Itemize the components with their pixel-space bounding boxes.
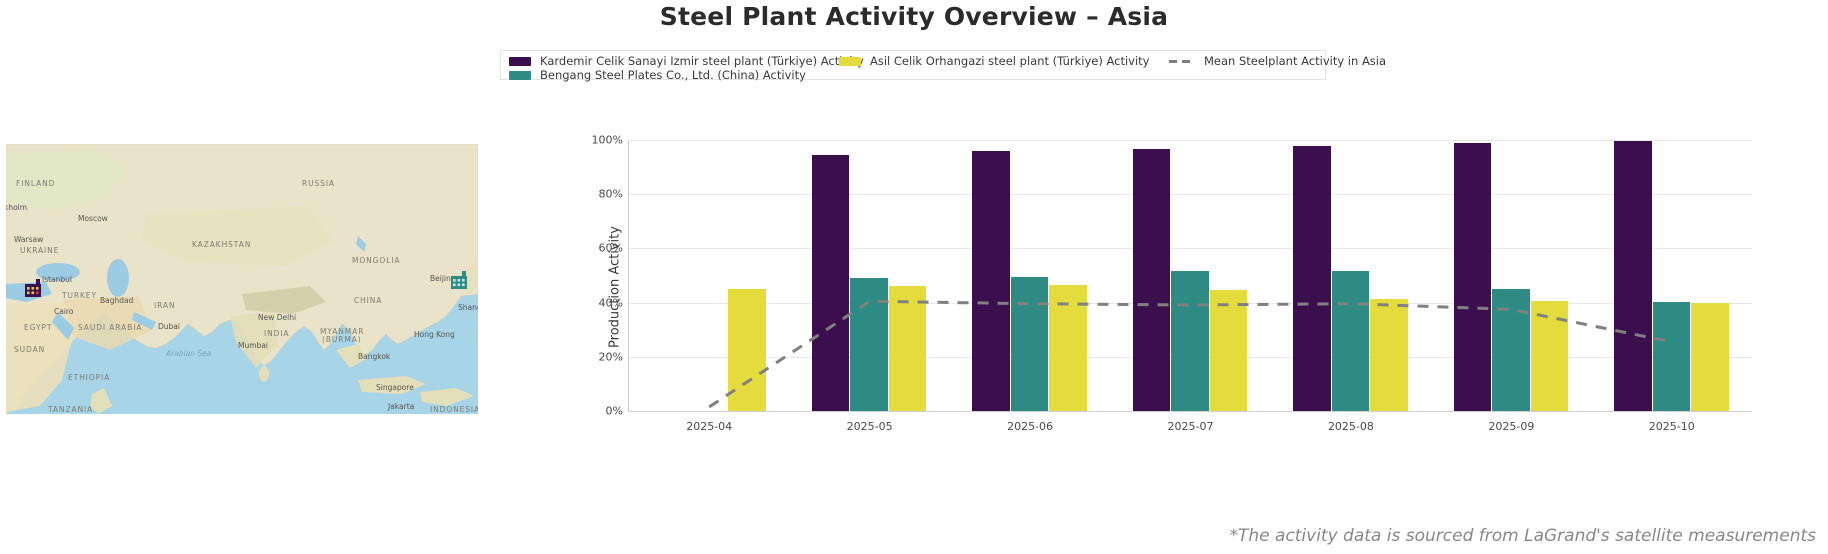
legend-swatch-asil bbox=[839, 57, 861, 66]
factory-icon bbox=[450, 270, 468, 290]
plot-area: 0%20%40%60%80%100%2025-042025-052025-062… bbox=[628, 140, 1752, 412]
china-plant-marker[interactable] bbox=[450, 270, 468, 290]
legend-label-asil: Asil Celik Orhangazi steel plant (Türkiy… bbox=[870, 54, 1149, 68]
legend-item-mean[interactable]: Mean Steelplant Activity in Asia bbox=[1169, 54, 1386, 68]
y-axis-tick: 40% bbox=[563, 296, 623, 309]
turkiye-plant-marker[interactable] bbox=[24, 278, 42, 298]
mean-activity-line bbox=[629, 140, 1752, 411]
source-footnote: *The activity data is sourced from LaGra… bbox=[1229, 526, 1816, 546]
legend-item-bengang[interactable]: Bengang Steel Plates Co., Ltd. (China) A… bbox=[509, 68, 839, 82]
x-axis-tick: 2025-10 bbox=[1649, 420, 1695, 433]
x-axis-tick: 2025-08 bbox=[1328, 420, 1374, 433]
page-title: Steel Plant Activity Overview – Asia bbox=[0, 2, 1828, 31]
x-axis-tick: 2025-09 bbox=[1488, 420, 1534, 433]
legend-swatch-mean-dashed-line bbox=[1169, 56, 1195, 66]
y-axis-tick: 60% bbox=[563, 242, 623, 255]
legend-swatch-bengang bbox=[509, 71, 531, 80]
x-axis-tick: 2025-06 bbox=[1007, 420, 1053, 433]
y-axis-tick: 80% bbox=[563, 188, 623, 201]
chart-legend: Kardemir Celik Sanayi Izmir steel plant … bbox=[500, 50, 1326, 80]
x-axis-tick: 2025-07 bbox=[1168, 420, 1214, 433]
legend-label-bengang: Bengang Steel Plates Co., Ltd. (China) A… bbox=[540, 68, 806, 82]
asia-overview-map[interactable]: FINLAND RUSSIA kholm Moscow Warsaw UKRAI… bbox=[6, 144, 478, 414]
legend-label-mean: Mean Steelplant Activity in Asia bbox=[1204, 54, 1386, 68]
y-axis-tick: 20% bbox=[563, 350, 623, 363]
legend-swatch-kardemir bbox=[509, 57, 531, 66]
y-axis-tick: 0% bbox=[563, 405, 623, 418]
legend-label-kardemir: Kardemir Celik Sanayi Izmir steel plant … bbox=[540, 54, 864, 68]
activity-bar-chart: Production Activity 0%20%40%60%80%100%20… bbox=[560, 132, 1820, 442]
factory-icon bbox=[24, 278, 42, 298]
map-canvas bbox=[6, 144, 478, 414]
y-axis-tick: 100% bbox=[563, 134, 623, 147]
x-axis-tick: 2025-05 bbox=[847, 420, 893, 433]
legend-item-asil[interactable]: Asil Celik Orhangazi steel plant (Türkiy… bbox=[839, 54, 1169, 68]
legend-item-kardemir[interactable]: Kardemir Celik Sanayi Izmir steel plant … bbox=[509, 54, 839, 68]
x-axis-tick: 2025-04 bbox=[686, 420, 732, 433]
